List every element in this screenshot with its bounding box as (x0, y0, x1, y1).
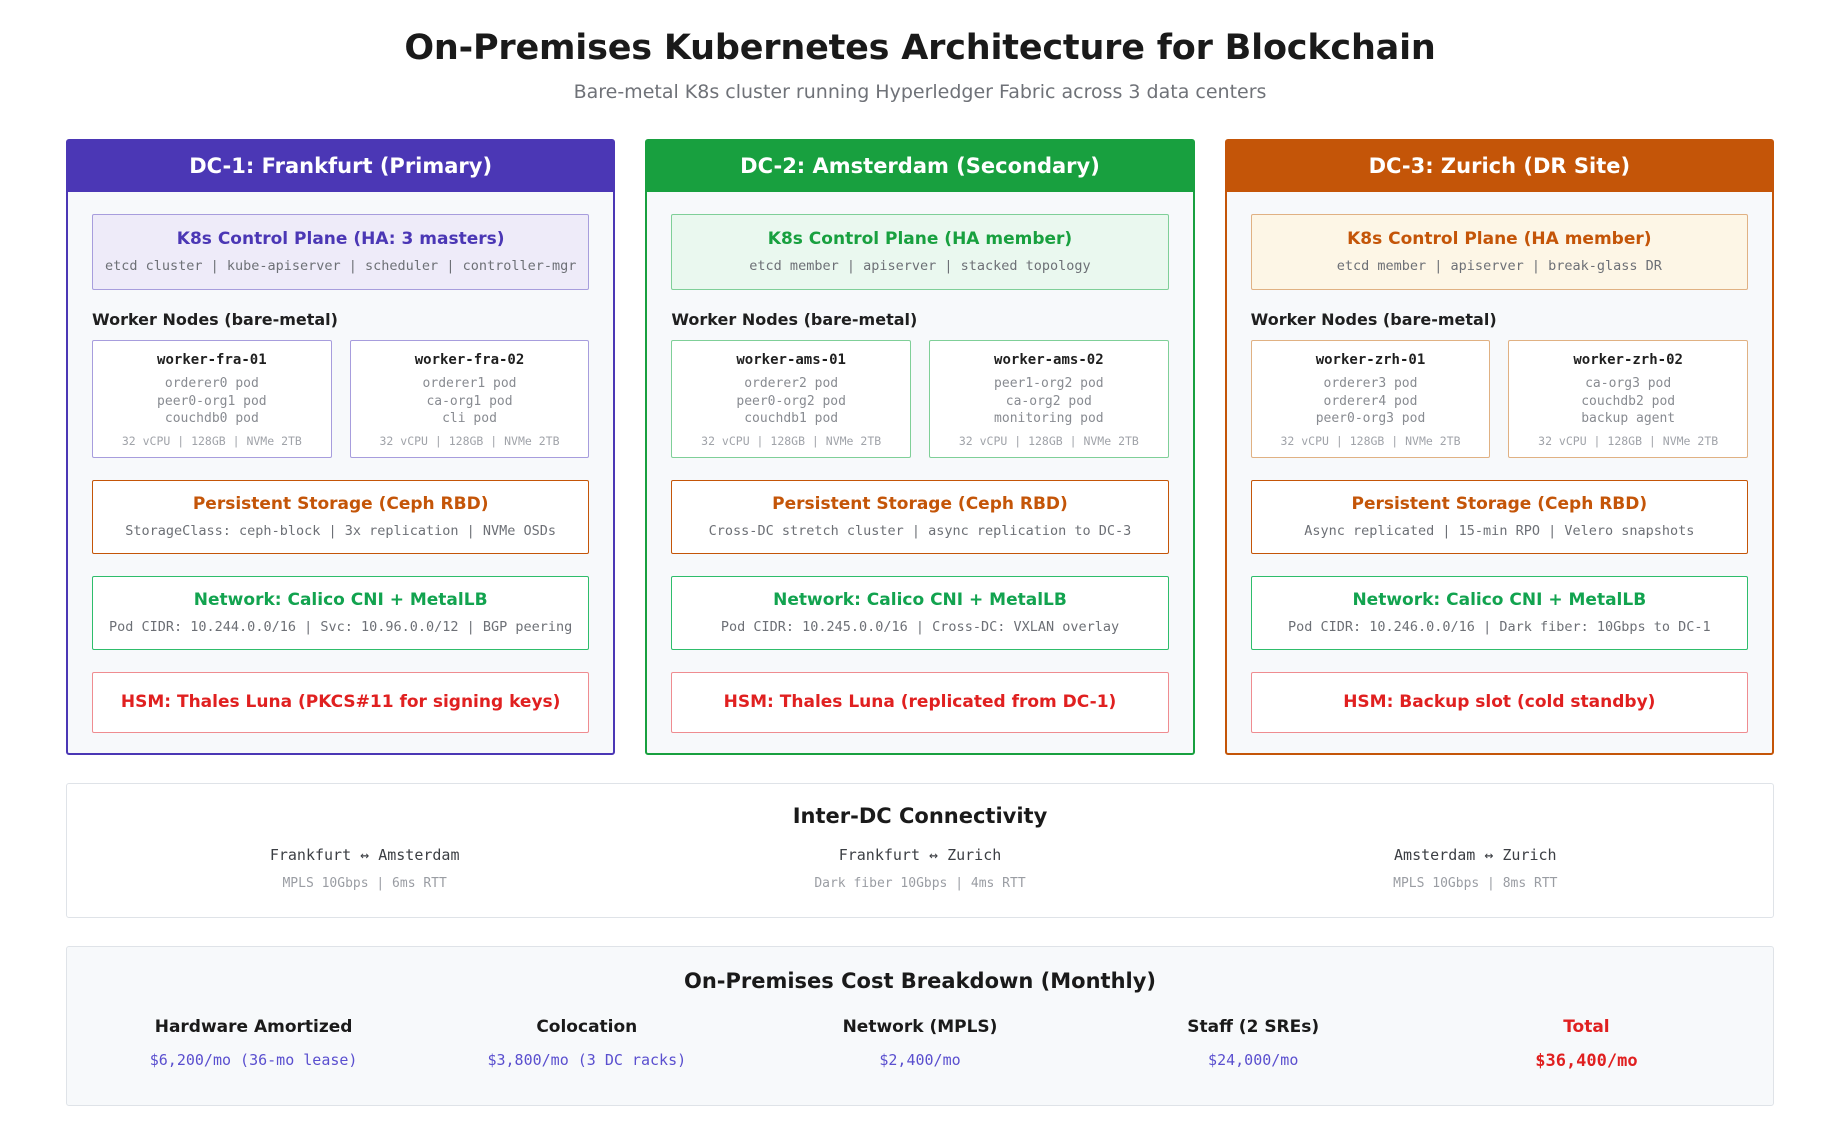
connectivity-link: Amsterdam ↔ Zurich MPLS 10Gbps | 8ms RTT (1198, 846, 1753, 891)
worker-pod: peer0-org2 pod (677, 393, 905, 411)
datacenter-header-dc2: DC-2: Amsterdam (Secondary) (647, 141, 1192, 192)
datacenter-columns: DC-1: Frankfurt (Primary) K8s Control Pl… (66, 139, 1774, 755)
worker-node-row-dc1: worker-fra-01 orderer0 pod peer0-org1 po… (92, 340, 589, 458)
storage-title: Persistent Storage (Ceph RBD) (1260, 494, 1739, 514)
datacenter-body-dc1: K8s Control Plane (HA: 3 masters) etcd c… (68, 192, 613, 753)
datacenter-header-dc3: DC-3: Zurich (DR Site) (1227, 141, 1772, 192)
worker-pod: orderer2 pod (677, 375, 905, 393)
cost-item: Colocation $3,800/mo (3 DC racks) (420, 1017, 753, 1071)
cost-label: Network (MPLS) (753, 1017, 1086, 1037)
cost-item: Staff (2 SREs) $24,000/mo (1087, 1017, 1420, 1071)
control-plane-title: K8s Control Plane (HA member) (1260, 229, 1739, 249)
connectivity-title: Inter-DC Connectivity (87, 804, 1753, 846)
page-subtitle: Bare-metal K8s cluster running Hyperledg… (66, 68, 1774, 103)
network-title: Network: Calico CNI + MetalLB (101, 590, 580, 610)
storage-title: Persistent Storage (Ceph RBD) (680, 494, 1159, 514)
datacenter-card-dc3: DC-3: Zurich (DR Site) K8s Control Plane… (1225, 139, 1774, 755)
page-title: On-Premises Kubernetes Architecture for … (66, 22, 1774, 68)
cost-breakdown-title: On-Premises Cost Breakdown (Monthly) (87, 969, 1753, 1011)
cost-item-total: Total $36,400/mo (1420, 1017, 1753, 1071)
worker-node-spec: 32 vCPU | 128GB | NVMe 2TB (1257, 428, 1485, 448)
cost-row: Hardware Amortized $6,200/mo (36-mo leas… (87, 1011, 1753, 1071)
worker-node-card: worker-ams-02 peer1-org2 pod ca-org2 pod… (929, 340, 1169, 458)
connectivity-link: Frankfurt ↔ Amsterdam MPLS 10Gbps | 6ms … (87, 846, 642, 891)
worker-pod: peer0-org1 pod (98, 393, 326, 411)
cost-value: $3,800/mo (3 DC racks) (420, 1037, 753, 1069)
connectivity-spec: Dark fiber 10Gbps | 4ms RTT (642, 864, 1197, 891)
storage-detail: Cross-DC stretch cluster | async replica… (680, 514, 1159, 539)
worker-pod: cli pod (356, 410, 584, 428)
hsm-title: HSM: Thales Luna (PKCS#11 for signing ke… (101, 692, 580, 712)
network-panel-dc1: Network: Calico CNI + MetalLB Pod CIDR: … (92, 576, 589, 650)
network-detail: Pod CIDR: 10.244.0.0/16 | Svc: 10.96.0.0… (101, 610, 580, 635)
worker-node-name: worker-zrh-01 (1257, 352, 1485, 368)
cost-item: Hardware Amortized $6,200/mo (36-mo leas… (87, 1017, 420, 1071)
worker-node-spec: 32 vCPU | 128GB | NVMe 2TB (1514, 428, 1742, 448)
connectivity-pair: Frankfurt ↔ Amsterdam (87, 846, 642, 864)
worker-node-row-dc2: worker-ams-01 orderer2 pod peer0-org2 po… (671, 340, 1168, 458)
connectivity-link: Frankfurt ↔ Zurich Dark fiber 10Gbps | 4… (642, 846, 1197, 891)
cost-breakdown-section: On-Premises Cost Breakdown (Monthly) Har… (66, 946, 1774, 1106)
worker-pod: peer0-org3 pod (1257, 410, 1485, 428)
worker-pod: monitoring pod (935, 410, 1163, 428)
hsm-panel-dc1: HSM: Thales Luna (PKCS#11 for signing ke… (92, 672, 589, 733)
network-title: Network: Calico CNI + MetalLB (1260, 590, 1739, 610)
control-plane-detail: etcd member | apiserver | stacked topolo… (680, 249, 1159, 274)
cost-value-total: $36,400/mo (1420, 1037, 1753, 1071)
datacenter-header-dc1: DC-1: Frankfurt (Primary) (68, 141, 613, 192)
worker-pod: couchdb1 pod (677, 410, 905, 428)
worker-nodes-label-dc1: Worker Nodes (bare-metal) (92, 290, 589, 340)
network-panel-dc3: Network: Calico CNI + MetalLB Pod CIDR: … (1251, 576, 1748, 650)
storage-panel-dc2: Persistent Storage (Ceph RBD) Cross-DC s… (671, 480, 1168, 554)
worker-pod: orderer4 pod (1257, 393, 1485, 411)
worker-node-spec: 32 vCPU | 128GB | NVMe 2TB (98, 428, 326, 448)
worker-node-card: worker-zrh-02 ca-org3 pod couchdb2 pod b… (1508, 340, 1748, 458)
datacenter-card-dc1: DC-1: Frankfurt (Primary) K8s Control Pl… (66, 139, 615, 755)
control-plane-panel-dc1: K8s Control Plane (HA: 3 masters) etcd c… (92, 214, 589, 290)
worker-pod: backup agent (1514, 410, 1742, 428)
worker-node-name: worker-ams-01 (677, 352, 905, 368)
worker-node-spec: 32 vCPU | 128GB | NVMe 2TB (677, 428, 905, 448)
control-plane-panel-dc2: K8s Control Plane (HA member) etcd membe… (671, 214, 1168, 290)
worker-node-card: worker-ams-01 orderer2 pod peer0-org2 po… (671, 340, 911, 458)
control-plane-detail: etcd cluster | kube-apiserver | schedule… (101, 249, 580, 274)
worker-node-spec: 32 vCPU | 128GB | NVMe 2TB (935, 428, 1163, 448)
worker-pod: couchdb2 pod (1514, 393, 1742, 411)
worker-pod: orderer3 pod (1257, 375, 1485, 393)
worker-node-spec: 32 vCPU | 128GB | NVMe 2TB (356, 428, 584, 448)
worker-node-name: worker-zrh-02 (1514, 352, 1742, 368)
worker-nodes-label-dc2: Worker Nodes (bare-metal) (671, 290, 1168, 340)
connectivity-link-row: Frankfurt ↔ Amsterdam MPLS 10Gbps | 6ms … (87, 846, 1753, 891)
architecture-diagram-page: On-Premises Kubernetes Architecture for … (0, 0, 1840, 1138)
network-panel-dc2: Network: Calico CNI + MetalLB Pod CIDR: … (671, 576, 1168, 650)
worker-pod: ca-org2 pod (935, 393, 1163, 411)
cost-label: Hardware Amortized (87, 1017, 420, 1037)
hsm-title: HSM: Backup slot (cold standby) (1260, 692, 1739, 712)
worker-node-row-dc3: worker-zrh-01 orderer3 pod orderer4 pod … (1251, 340, 1748, 458)
network-title: Network: Calico CNI + MetalLB (680, 590, 1159, 610)
control-plane-title: K8s Control Plane (HA member) (680, 229, 1159, 249)
storage-detail: StorageClass: ceph-block | 3x replicatio… (101, 514, 580, 539)
cost-value: $24,000/mo (1087, 1037, 1420, 1069)
cost-label-total: Total (1420, 1017, 1753, 1037)
network-detail: Pod CIDR: 10.245.0.0/16 | Cross-DC: VXLA… (680, 610, 1159, 635)
cost-label: Staff (2 SREs) (1087, 1017, 1420, 1037)
control-plane-title: K8s Control Plane (HA: 3 masters) (101, 229, 580, 249)
worker-node-card: worker-fra-01 orderer0 pod peer0-org1 po… (92, 340, 332, 458)
worker-node-card: worker-fra-02 orderer1 pod ca-org1 pod c… (350, 340, 590, 458)
worker-node-name: worker-fra-02 (356, 352, 584, 368)
connectivity-pair: Frankfurt ↔ Zurich (642, 846, 1197, 864)
connectivity-pair: Amsterdam ↔ Zurich (1198, 846, 1753, 864)
cost-value: $6,200/mo (36-mo lease) (87, 1037, 420, 1069)
worker-pod: orderer1 pod (356, 375, 584, 393)
datacenter-card-dc2: DC-2: Amsterdam (Secondary) K8s Control … (645, 139, 1194, 755)
hsm-title: HSM: Thales Luna (replicated from DC-1) (680, 692, 1159, 712)
worker-pod: peer1-org2 pod (935, 375, 1163, 393)
hsm-panel-dc2: HSM: Thales Luna (replicated from DC-1) (671, 672, 1168, 733)
worker-pod: ca-org3 pod (1514, 375, 1742, 393)
storage-panel-dc3: Persistent Storage (Ceph RBD) Async repl… (1251, 480, 1748, 554)
worker-pod: ca-org1 pod (356, 393, 584, 411)
control-plane-detail: etcd member | apiserver | break-glass DR (1260, 249, 1739, 274)
worker-node-name: worker-ams-02 (935, 352, 1163, 368)
connectivity-spec: MPLS 10Gbps | 8ms RTT (1198, 864, 1753, 891)
cost-item: Network (MPLS) $2,400/mo (753, 1017, 1086, 1071)
control-plane-panel-dc3: K8s Control Plane (HA member) etcd membe… (1251, 214, 1748, 290)
worker-node-name: worker-fra-01 (98, 352, 326, 368)
hsm-panel-dc3: HSM: Backup slot (cold standby) (1251, 672, 1748, 733)
worker-node-card: worker-zrh-01 orderer3 pod orderer4 pod … (1251, 340, 1491, 458)
storage-detail: Async replicated | 15-min RPO | Velero s… (1260, 514, 1739, 539)
cost-label: Colocation (420, 1017, 753, 1037)
worker-nodes-label-dc3: Worker Nodes (bare-metal) (1251, 290, 1748, 340)
connectivity-section: Inter-DC Connectivity Frankfurt ↔ Amster… (66, 783, 1774, 918)
worker-pod: couchdb0 pod (98, 410, 326, 428)
datacenter-body-dc3: K8s Control Plane (HA member) etcd membe… (1227, 192, 1772, 753)
worker-pod: orderer0 pod (98, 375, 326, 393)
storage-panel-dc1: Persistent Storage (Ceph RBD) StorageCla… (92, 480, 589, 554)
datacenter-body-dc2: K8s Control Plane (HA member) etcd membe… (647, 192, 1192, 753)
network-detail: Pod CIDR: 10.246.0.0/16 | Dark fiber: 10… (1260, 610, 1739, 635)
connectivity-spec: MPLS 10Gbps | 6ms RTT (87, 864, 642, 891)
storage-title: Persistent Storage (Ceph RBD) (101, 494, 580, 514)
cost-value: $2,400/mo (753, 1037, 1086, 1069)
